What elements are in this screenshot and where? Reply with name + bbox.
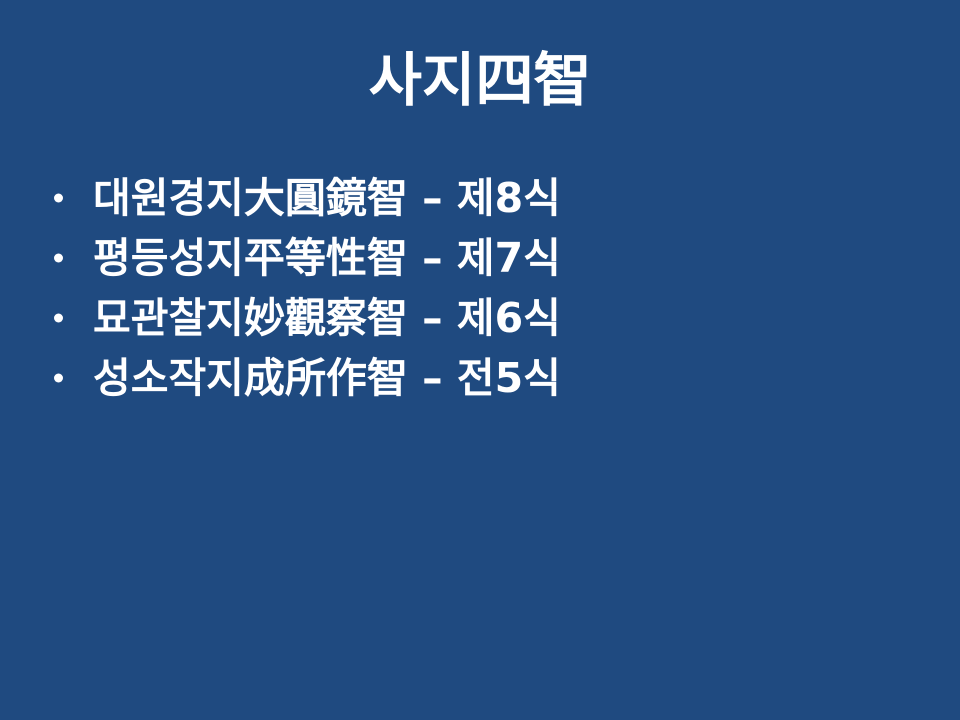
bullet-list: 대원경지大圓鏡智 – 제8식 평등성지平等性智 – 제7식 묘관찰지妙觀察智 –… [48,168,918,408]
bullet-dot-icon [54,314,63,323]
list-item-label: 성소작지成所作智 – 전5식 [93,354,561,402]
page-title: 사지四智 [0,47,960,114]
list-item-label: 대원경지大圓鏡智 – 제8식 [93,174,561,222]
bullet-dot-icon [54,254,63,263]
list-item: 성소작지成所作智 – 전5식 [48,348,918,408]
list-item-label: 평등성지平等性智 – 제7식 [93,234,561,282]
list-item: 묘관찰지妙觀察智 – 제6식 [48,288,918,348]
list-item: 대원경지大圓鏡智 – 제8식 [48,168,918,228]
bullet-dot-icon [54,194,63,203]
presentation-slide: 사지四智 대원경지大圓鏡智 – 제8식 평등성지平等性智 – 제7식 묘관찰지妙… [0,0,960,720]
bullet-dot-icon [54,374,63,383]
list-item: 평등성지平等性智 – 제7식 [48,228,918,288]
list-item-label: 묘관찰지妙觀察智 – 제6식 [93,294,561,342]
